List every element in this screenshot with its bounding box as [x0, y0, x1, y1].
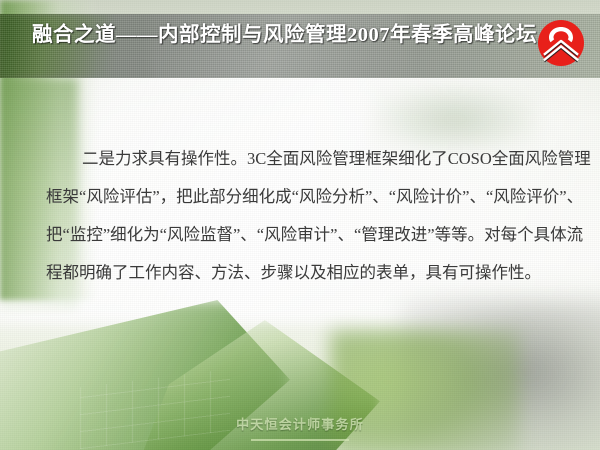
slide-body-text: 二是力求具有操作性。3C全面风险管理框架细化了COSO全面风险管理 框架“风险评… [46, 140, 556, 292]
presentation-slide: 融合之道——内部控制与风险管理2007年春季高峰论坛 二是力求具有操作性。3C全… [0, 0, 600, 450]
slide-title: 融合之道——内部控制与风险管理2007年春季高峰论坛 [32, 0, 537, 64]
body-line-4: 程都明确了工作内容、方法、步骤以及相应的表单，具有可操作性。 [46, 254, 556, 292]
body-line-3: 把“监控”细化为“风险监督”、“风险审计”、“管理改进”等等。对每个具体流 [46, 216, 556, 254]
body-line-1: 二是力求具有操作性。3C全面风险管理框架细化了COSO全面风险管理 [46, 140, 556, 178]
footer-divider-rule [251, 439, 349, 441]
slide-footer: 中天恒会计师事务所 [0, 414, 600, 441]
body-line-2: 框架“风险评估”，把此部分细化成“风险分析”、“风险计价”、“风险评价”、 [46, 178, 556, 216]
zhongtianheng-logo-icon [536, 18, 586, 68]
footer-organization-name: 中天恒会计师事务所 [0, 414, 600, 433]
